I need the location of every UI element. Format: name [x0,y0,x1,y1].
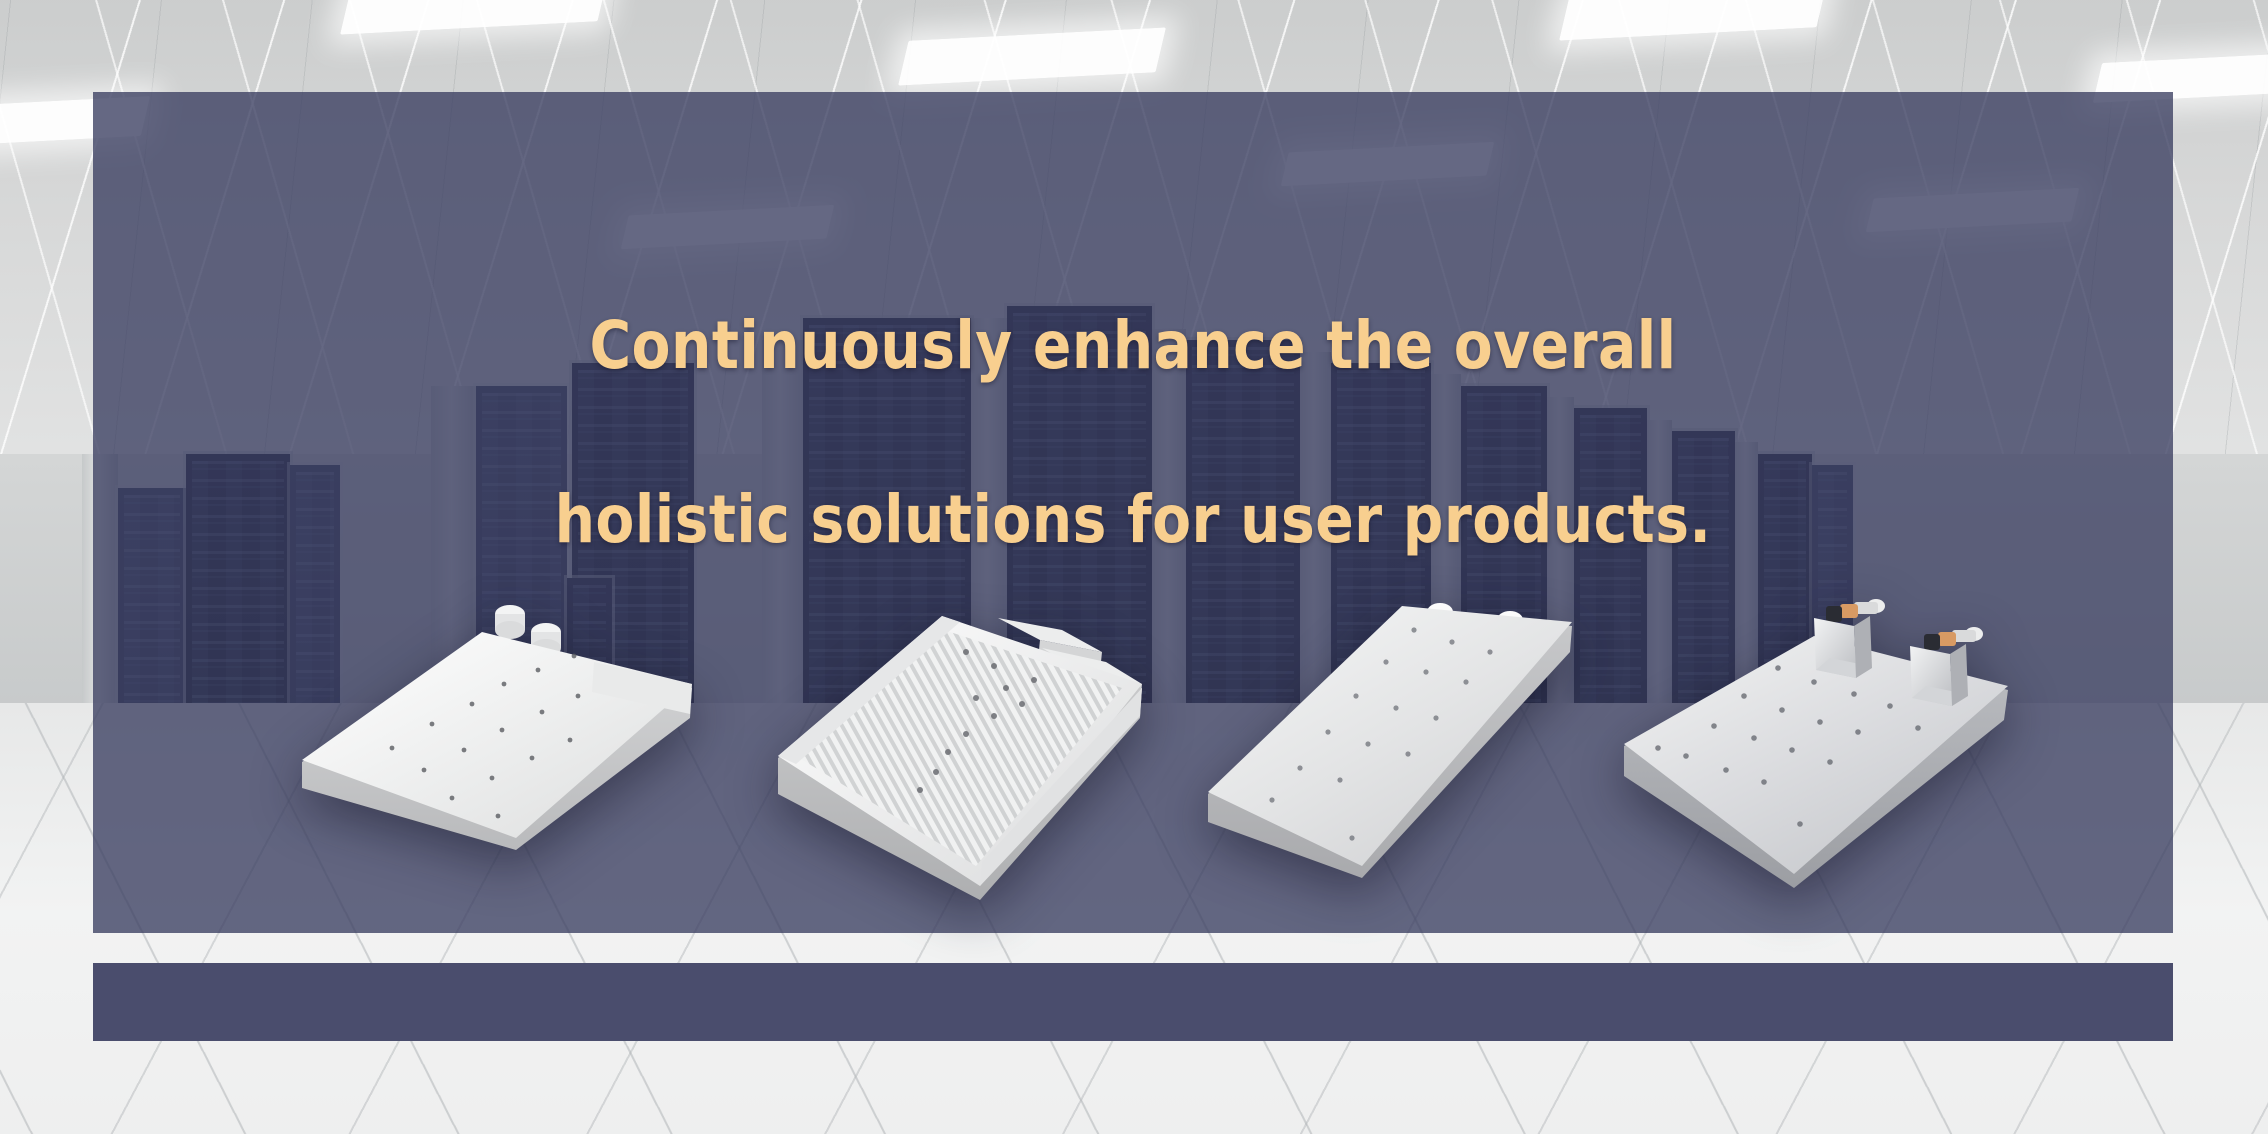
coolant-port [495,605,525,639]
product-image-finned-heatsink-cold-plate [770,600,1200,930]
hose-barb-fitting [1924,627,1983,650]
product-image-flat-cold-plate-dual-stud [1200,586,1610,896]
headline-line-2: holistic solutions for user products. [239,476,2028,563]
bottom-accent-bar [93,963,2173,1041]
manifold-block [1910,644,1968,706]
manifold-block [1814,616,1872,678]
headline-line-1: Continuously enhance the overall [239,302,2028,389]
hose-barb-fitting [1826,599,1885,622]
product-image-cold-plate-with-block-fittings [1618,578,2048,908]
marketing-banner: Continuously enhance the overall holisti… [0,0,2268,1134]
product-image-liquid-cold-plate-smooth-dual-port [292,592,712,892]
